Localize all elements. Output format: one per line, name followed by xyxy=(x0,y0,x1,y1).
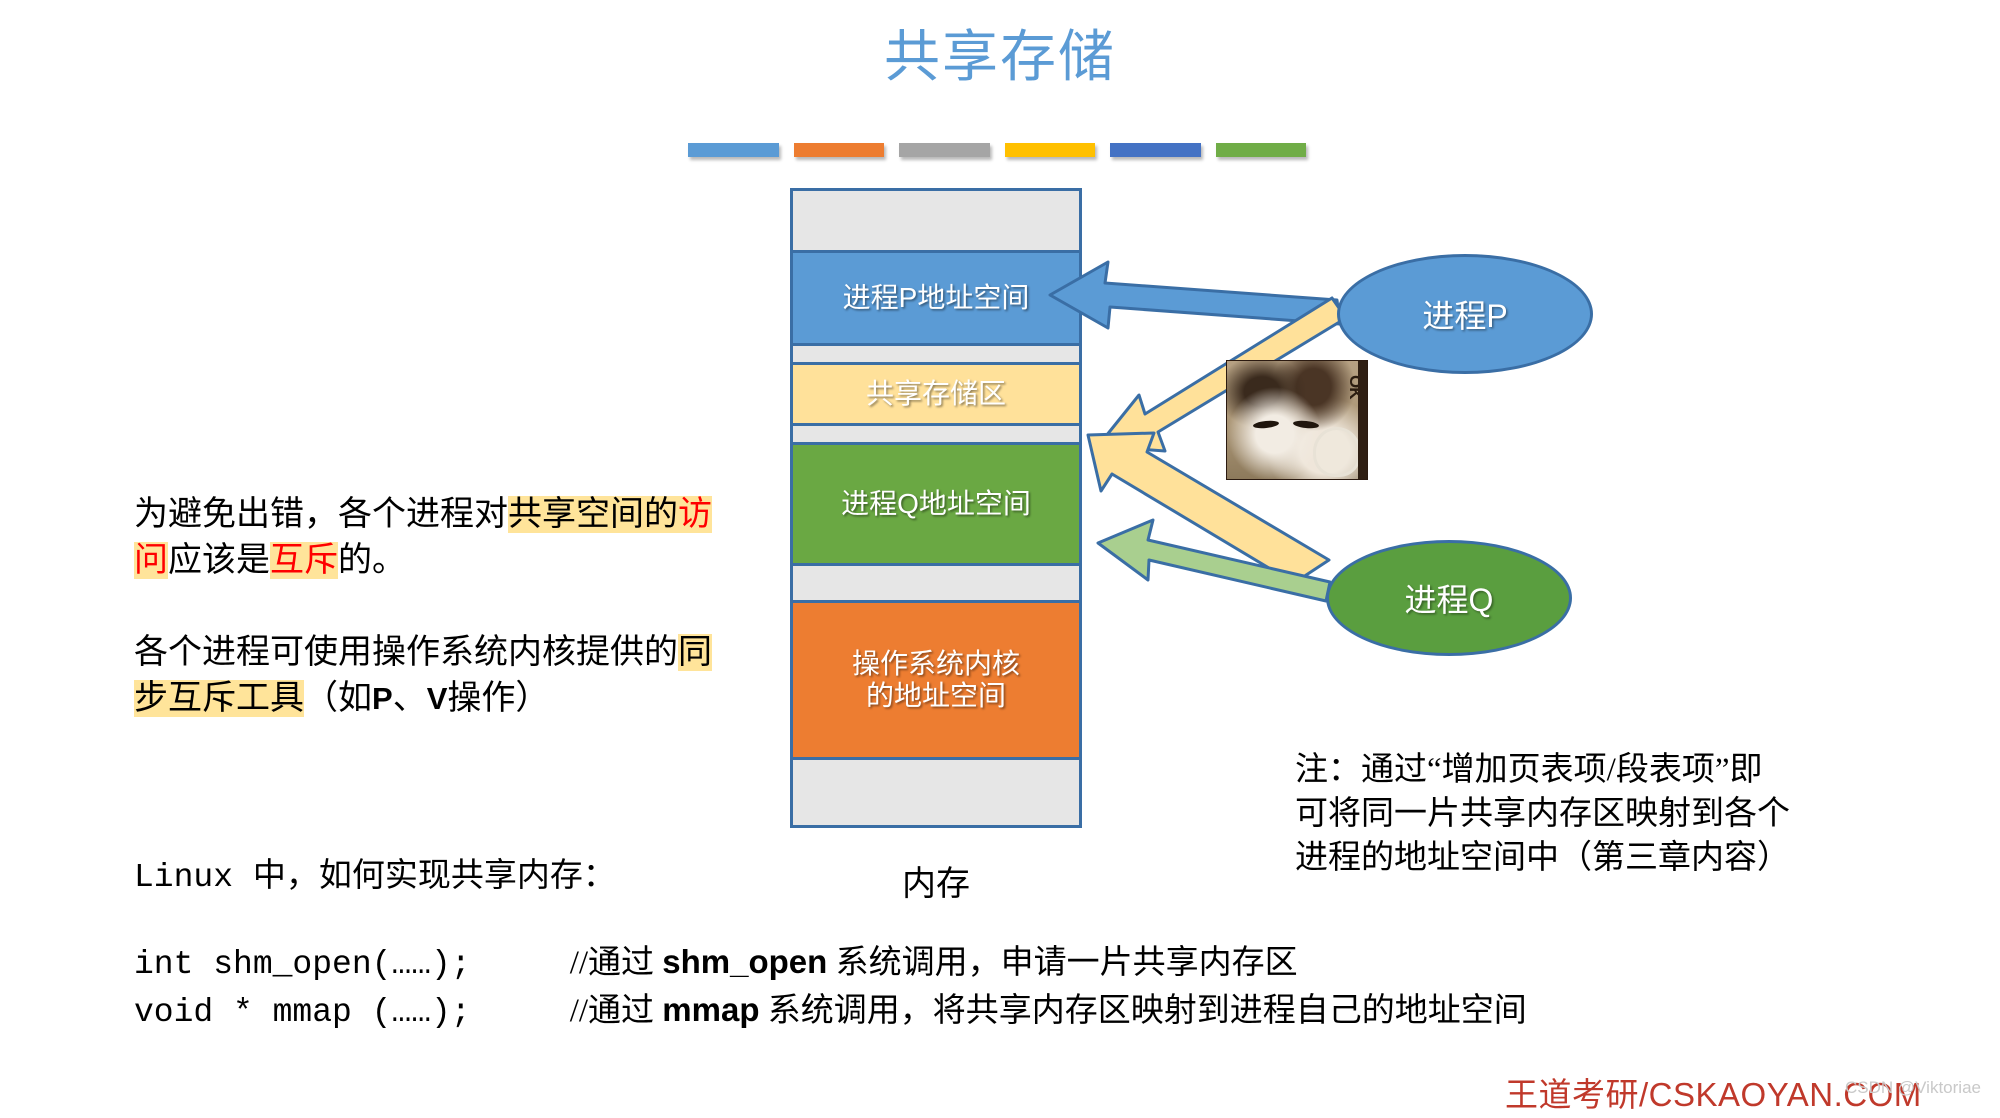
code-signature-shm-open: int shm_open(……); xyxy=(134,946,471,983)
csdn-watermark: CSDN @Viktoriae xyxy=(1845,1078,1981,1098)
process-q-node: 进程Q xyxy=(1326,540,1572,656)
page-title: 共享存储 xyxy=(0,28,2000,90)
code-comment-prefix-shm-open: //通过 xyxy=(570,945,663,981)
memory-layout-diagram: 进程P地址空间共享存储区进程Q地址空间操作系统内核的地址空间 xyxy=(790,188,1082,828)
code-signature-mmap: void * mmap (……); xyxy=(134,994,471,1031)
cat-ok-hand-icon xyxy=(1313,427,1361,477)
color-bar-blue xyxy=(688,143,779,157)
memory-segment-process-p-space: 进程P地址空间 xyxy=(793,250,1079,346)
cat-ok-meme-image: OK xyxy=(1226,360,1368,480)
note-line-3: 进程的地址空间中（第三章内容） xyxy=(1295,836,1935,880)
color-bar-green xyxy=(1216,143,1307,157)
code-line-mmap: void * mmap (……); //通过 mmap 系统调用，将共享内存区映… xyxy=(134,983,1527,1031)
code-comment-suffix-mmap: 系统调用，将共享内存区映射到进程自己的地址空间 xyxy=(759,993,1526,1029)
color-bar-yellow xyxy=(1005,143,1096,157)
tools-text-part4: 操作） xyxy=(447,680,549,717)
code-line-shm-open: int shm_open(……); //通过 shm_open 系统调用，申请一… xyxy=(134,935,1298,983)
tools-latin-p: P xyxy=(372,681,393,716)
memory-segment-process-q-space: 进程Q地址空间 xyxy=(793,442,1079,566)
memory-segment-shared-memory: 共享存储区 xyxy=(793,362,1079,426)
color-bar-dark-blue xyxy=(1110,143,1201,157)
process-q-label: 进程Q xyxy=(1405,575,1494,621)
paragraph-mutual-exclusion: 为避免出错，各个进程对共享空间的访问应该是互斥的。 xyxy=(134,492,734,583)
color-bar-gray xyxy=(899,143,990,157)
arrow-p-to-p-space xyxy=(1050,262,1340,328)
memory-segment-gap-3 xyxy=(793,563,1079,603)
code-comment-fn-shm-open: shm_open xyxy=(662,943,827,980)
arrow-q-to-q-space xyxy=(1098,520,1330,601)
memory-segment-label-shared-memory: 共享存储区 xyxy=(866,378,1006,410)
cat-eye-right-icon xyxy=(1293,420,1320,430)
process-p-label: 进程P xyxy=(1422,291,1507,337)
memory-segment-label-process-q-space: 进程Q地址空间 xyxy=(841,488,1031,520)
memory-segment-label-os-kernel-space: 操作系统内核的地址空间 xyxy=(852,648,1020,713)
cat-eye-left-icon xyxy=(1253,420,1280,430)
note-paragraph: 注：通过“增加页表项/段表项”即 可将同一片共享内存区映射到各个 进程的地址空间… xyxy=(1295,748,1935,881)
memory-segment-free-top xyxy=(793,191,1079,253)
memory-diagram-caption: 内存 xyxy=(790,856,1082,905)
memory-segment-label-process-p-space: 进程P地址空间 xyxy=(843,282,1030,314)
tools-text-part3: 、 xyxy=(393,680,427,717)
color-bar-orange xyxy=(794,143,885,157)
code-comment-prefix-mmap: //通过 xyxy=(570,993,663,1029)
note-line-2: 可将同一片共享内存区映射到各个 xyxy=(1295,792,1935,836)
tools-latin-v: V xyxy=(427,681,448,716)
linux-section-heading: Linux 中，如何实现共享内存： xyxy=(134,848,616,896)
tools-text-part2: （如 xyxy=(304,680,372,717)
tools-text-part1: 各个进程可使用操作系统内核提供的 xyxy=(134,634,678,671)
process-p-node: 进程P xyxy=(1337,254,1593,374)
mutex-text-part3: 的。 xyxy=(338,542,406,579)
code-comment-suffix-shm-open: 系统调用，申请一片共享内存区 xyxy=(827,945,1297,981)
memory-segment-os-kernel-space: 操作系统内核的地址空间 xyxy=(793,600,1079,760)
note-line-1: 注：通过“增加页表项/段表项”即 xyxy=(1295,748,1935,792)
paragraph-sync-tools: 各个进程可使用操作系统内核提供的同步互斥工具（如P、V操作） xyxy=(134,630,734,721)
mutex-highlight-shared-space: 共享空间的 xyxy=(508,496,678,533)
title-decoration-bars xyxy=(688,143,1306,157)
meme-edge-strip xyxy=(1358,361,1367,479)
mutex-text-part1: 为避免出错，各个进程对 xyxy=(134,496,508,533)
mutex-red-exclusive: 互斥 xyxy=(270,542,338,579)
mutex-text-part2: 应该是 xyxy=(168,542,270,579)
code-comment-fn-mmap: mmap xyxy=(662,991,759,1028)
